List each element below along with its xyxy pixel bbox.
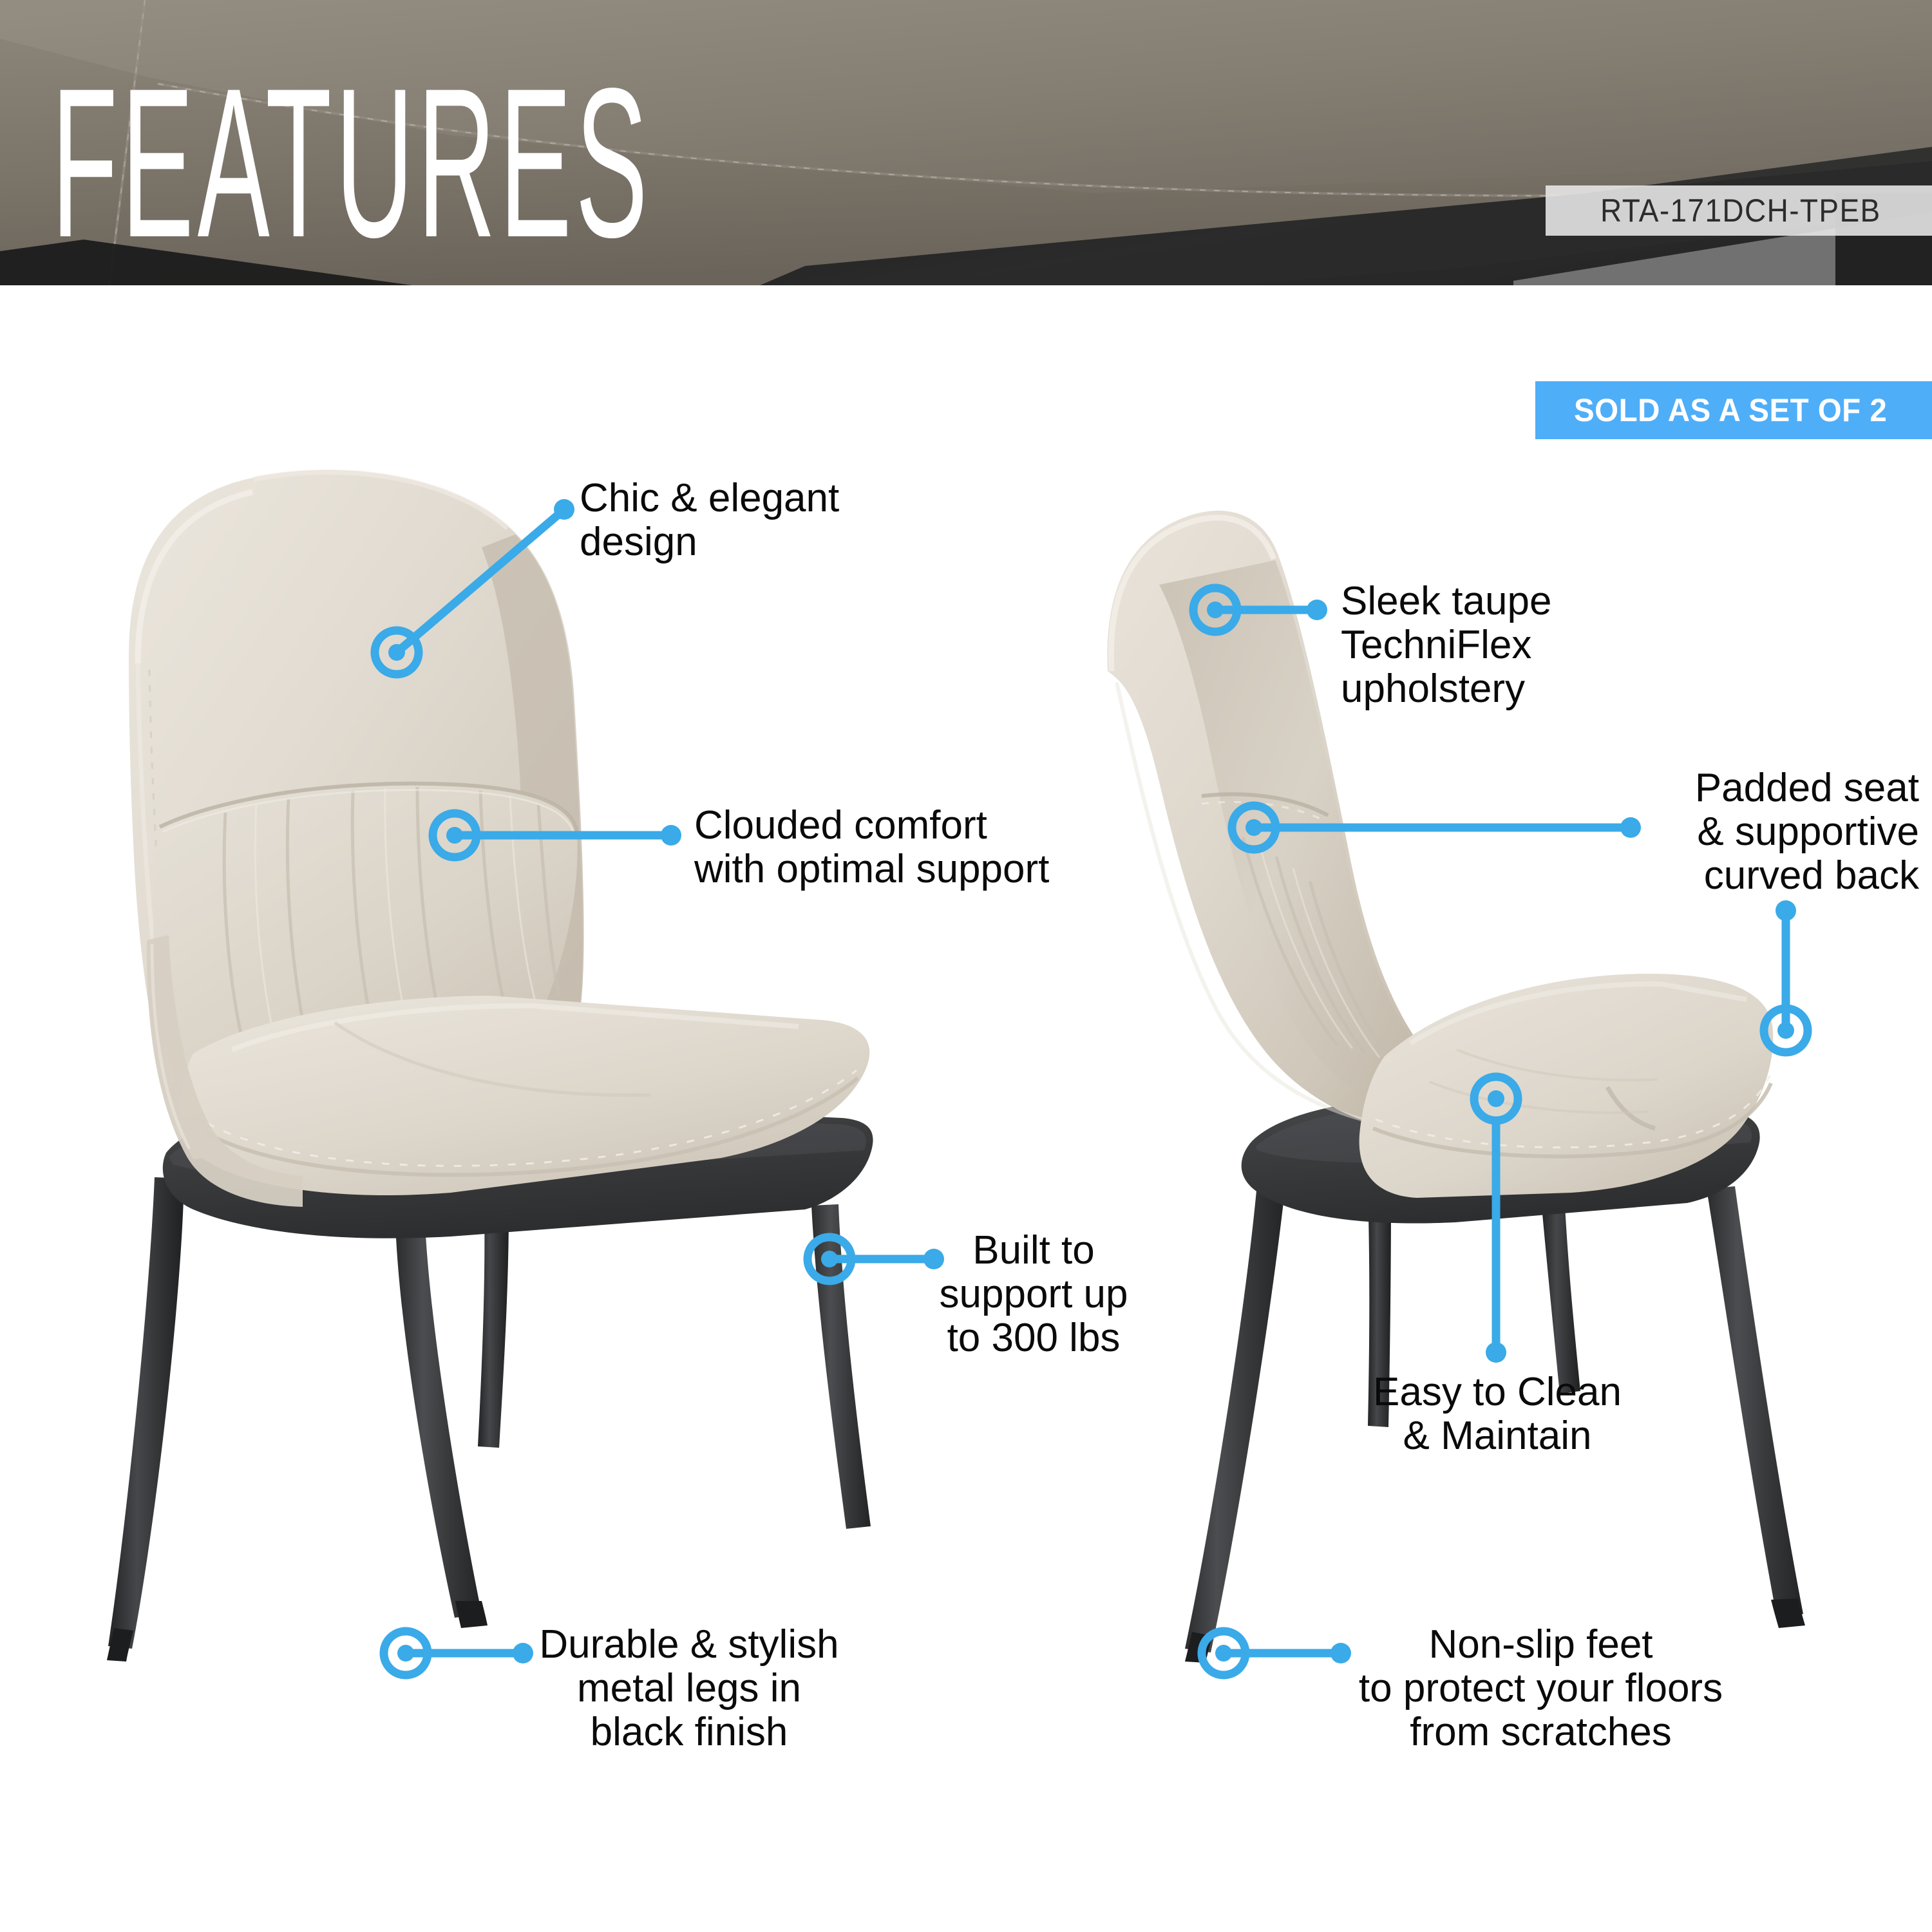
callout-leader-chic-elegant-design bbox=[375, 499, 574, 674]
callout-label-chic-elegant-design: Chic & elegant design bbox=[580, 477, 839, 564]
callout-marker-dot-durable-metal-legs bbox=[397, 1645, 414, 1662]
callout-label-built-to-support-300lbs: Built to support up to 300 lbs bbox=[927, 1229, 1140, 1361]
sku-text: RTA-171DCH-TPEB bbox=[1600, 192, 1881, 229]
chair-front-legs bbox=[107, 1177, 871, 1662]
chair-front-base bbox=[163, 1097, 873, 1238]
features-infographic: FEATURES RTA-171DCH-TPEB SOLD AS A SET O… bbox=[0, 0, 1932, 1932]
callout-marker-dot-padded-seat-back bbox=[1245, 819, 1262, 836]
callout-label-clouded-comfort: Clouded comfort with optimal support bbox=[694, 804, 1049, 891]
chair-side-base bbox=[1242, 1095, 1760, 1224]
chair-side-seat-cushion bbox=[1359, 974, 1774, 1198]
sku-badge: RTA-171DCH-TPEB bbox=[1546, 185, 1932, 236]
callout-marker-dot-built-to-support-300lbs bbox=[821, 1251, 838, 1267]
callout-leader-durable-metal-legs bbox=[384, 1631, 533, 1675]
callout-marker-dot-sleek-taupe-techniflex bbox=[1207, 601, 1224, 618]
callout-endpoint-easy-to-clean bbox=[1486, 1342, 1506, 1363]
callout-marker-dot-clouded-comfort bbox=[446, 827, 463, 844]
callout-marker-ring-durable-metal-legs bbox=[384, 1631, 428, 1675]
callout-label-easy-to-clean: Easy to Clean & Maintain bbox=[1327, 1370, 1668, 1458]
callout-marker-dot-chic-elegant-design bbox=[388, 644, 405, 661]
page-title: FEATURES bbox=[52, 72, 652, 255]
callout-endpoint-padded-seat-cushion bbox=[1776, 900, 1796, 921]
chair-front-view bbox=[107, 470, 873, 1662]
callout-leader-easy-to-clean bbox=[1474, 1077, 1518, 1363]
callout-label-padded-seat-curved-back: Padded seat & supportive curved back bbox=[1443, 766, 1919, 898]
callout-marker-ring-clouded-comfort bbox=[433, 813, 477, 857]
callout-endpoint-chic-elegant-design bbox=[554, 499, 574, 520]
set-of-2-banner: SOLD AS A SET OF 2 bbox=[1535, 381, 1932, 439]
callout-leader-non-slip-feet bbox=[1202, 1631, 1351, 1675]
callout-marker-dot-easy-to-clean bbox=[1488, 1090, 1504, 1107]
chair-front-lumbar-panel bbox=[153, 782, 577, 1121]
callout-marker-ring-padded-seat-cushion bbox=[1764, 1009, 1808, 1052]
callout-endpoint-clouded-comfort bbox=[661, 825, 681, 846]
callout-marker-ring-easy-to-clean bbox=[1474, 1077, 1518, 1121]
callout-marker-ring-chic-elegant-design bbox=[375, 630, 419, 674]
callout-leader-built-to-support-300lbs bbox=[808, 1237, 944, 1281]
callout-leader-sleek-taupe-techniflex bbox=[1193, 588, 1327, 632]
chair-front-backrest bbox=[129, 470, 584, 1159]
set-of-2-label: SOLD AS A SET OF 2 bbox=[1574, 392, 1887, 429]
callout-leader-clouded-comfort bbox=[433, 813, 681, 857]
callout-label-non-slip-feet: Non-slip feet to protect your floors fro… bbox=[1330, 1623, 1752, 1755]
callout-marker-dot-non-slip-feet bbox=[1215, 1645, 1232, 1662]
callout-marker-dot-padded-seat-cushion bbox=[1777, 1022, 1794, 1039]
callout-marker-ring-sleek-taupe-techniflex bbox=[1193, 588, 1237, 632]
header-band: FEATURES RTA-171DCH-TPEB bbox=[0, 0, 1932, 285]
chair-front-seat-cushion bbox=[180, 996, 869, 1195]
callout-marker-ring-built-to-support-300lbs bbox=[808, 1237, 851, 1281]
callout-marker-ring-padded-seat-back bbox=[1232, 806, 1276, 849]
callout-endpoint-sleek-taupe-techniflex bbox=[1307, 600, 1327, 620]
callout-label-durable-metal-legs: Durable & stylish metal legs in black fi… bbox=[515, 1623, 863, 1755]
callout-marker-ring-non-slip-feet bbox=[1202, 1631, 1245, 1675]
callout-label-sleek-taupe-techniflex: Sleek taupe TechniFlex upholstery bbox=[1341, 580, 1551, 712]
